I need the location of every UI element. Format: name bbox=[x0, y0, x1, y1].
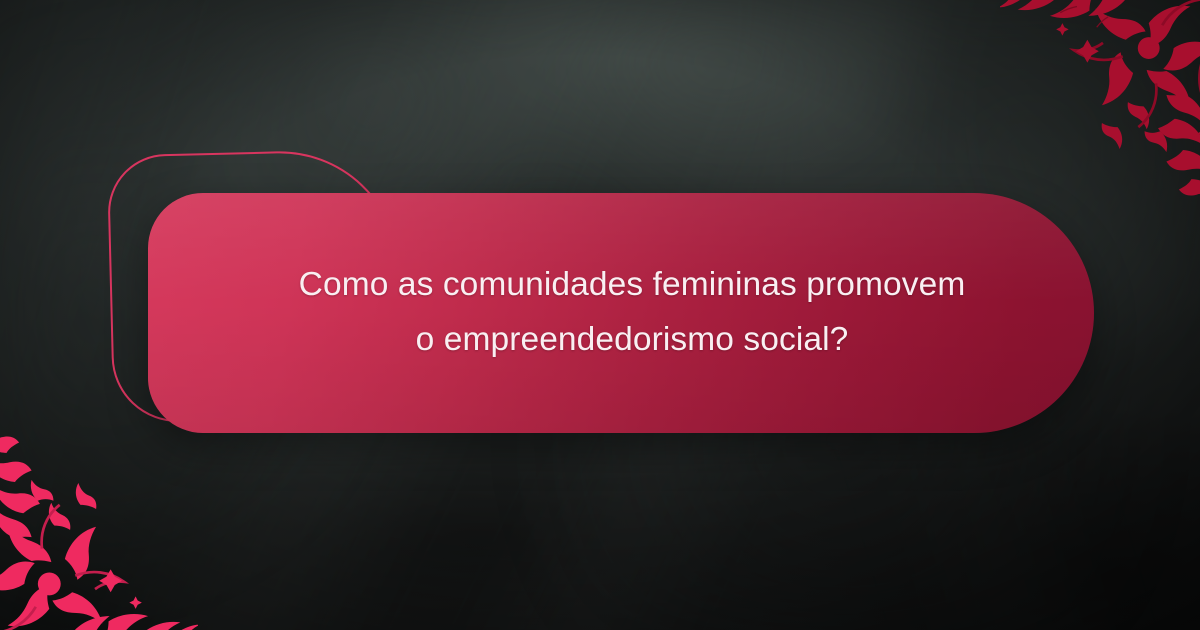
headline-line-1: Como as comunidades femininas promovem bbox=[299, 258, 966, 313]
social-card-canvas: Como as comunidades femininas promovem o… bbox=[0, 0, 1200, 630]
headline-line-2: o empreendedorismo social? bbox=[299, 313, 966, 368]
question-card: Como as comunidades femininas promovem o… bbox=[148, 193, 1094, 433]
page-title: Como as comunidades femininas promovem o… bbox=[299, 258, 966, 367]
